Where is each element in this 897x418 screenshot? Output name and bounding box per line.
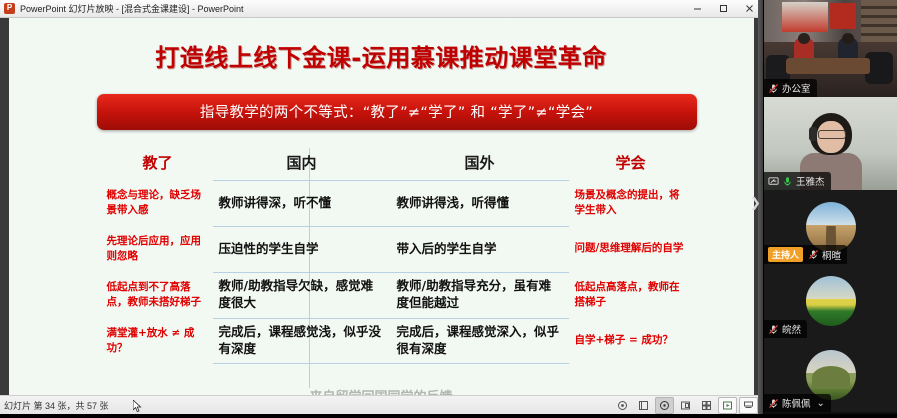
slide-canvas: 打造线上线下金课-运用慕课推动课堂革命 指导教学的两个不等式：“教了”≠“学了”…	[9, 18, 754, 395]
slide-footnote: 来自留学回国同学的反馈	[9, 386, 754, 396]
row-right-note: 低起点高落点，教师在搭梯子	[569, 272, 689, 318]
row-left-note: 概念与理论，缺乏场景带入感	[105, 180, 213, 226]
minimize-button[interactable]	[684, 0, 710, 17]
mic-muted-icon	[768, 324, 779, 335]
row-domestic-cell: 压迫性的学生自学	[213, 226, 391, 272]
view-controls	[613, 397, 758, 414]
screen-root: PowerPoint 幻灯片放映 - [混合式金课建设] - PowerPoin…	[0, 0, 897, 414]
reading-view-icon[interactable]	[697, 397, 716, 414]
accessibility-icon[interactable]	[613, 397, 632, 414]
screen-share-icon	[768, 176, 779, 187]
slide-counter: 幻灯片 第 34 张，共 57 张	[4, 399, 109, 412]
normal-view-icon[interactable]	[655, 397, 674, 414]
video-tile[interactable]: 主持人 桐暄	[764, 190, 897, 264]
mic-muted-icon	[768, 83, 779, 94]
powerpoint-logo-icon	[4, 3, 15, 14]
video-tile[interactable]: 王雅杰	[764, 97, 897, 190]
participant-label: 陈佩佩 ⌄	[764, 394, 831, 412]
row-left-note: 先理论后应用，应用则忽略	[105, 226, 213, 272]
video-tile[interactable]: 陈佩佩 ⌄	[764, 338, 897, 412]
row-domestic-cell: 完成后，课程感觉浅，似乎没有深度	[213, 318, 391, 364]
header-taught: 教了	[105, 146, 213, 180]
row-overseas-cell: 完成后，课程感觉深入，似乎很有深度	[391, 318, 569, 364]
inequality-banner: 指导教学的两个不等式：“教了”≠“学了” 和 “学了”≠“学会”	[97, 94, 697, 130]
restore-button[interactable]	[710, 0, 736, 17]
window-title: PowerPoint 幻灯片放映 - [混合式金课建设] - PowerPoin…	[20, 2, 244, 15]
row-domestic-cell: 教师/助教指导欠缺，感觉难度很大	[213, 272, 391, 318]
mic-muted-icon	[808, 249, 819, 260]
row-overseas-cell: 教师讲得浅，听得懂	[391, 180, 569, 226]
row-left-note: 满堂灌+放水 ≠ 成功？	[105, 318, 213, 364]
row-overseas-cell: 带入后的学生自学	[391, 226, 569, 272]
window-titlebar: PowerPoint 幻灯片放映 - [混合式金课建设] - PowerPoin…	[0, 0, 762, 18]
table-row: 低起点到不了高落点，教师未搭好梯子 教师/助教指导欠缺，感觉难度很大 教师/助教…	[105, 272, 689, 318]
row-overseas-cell: 教师/助教指导充分，虽有难度但能越过	[391, 272, 569, 318]
row-left-note: 低起点到不了高落点，教师未搭好梯子	[105, 272, 213, 318]
slide-title: 打造线上线下金课-运用慕课推动课堂革命	[9, 38, 754, 73]
row-right-note: 自学+梯子 = 成功？	[569, 318, 689, 364]
participant-name: 办公室	[782, 81, 811, 95]
status-bar: 幻灯片 第 34 张，共 57 张	[0, 395, 762, 414]
participant-label: 办公室	[764, 79, 817, 97]
participant-name: 皖然	[782, 322, 801, 336]
header-domestic: 国内	[213, 146, 391, 180]
participant-name: 桐暄	[822, 248, 841, 262]
chevron-down-icon[interactable]: ⌄	[817, 398, 825, 409]
video-panel: 办公室 王雅杰 主持人 桐暄	[764, 0, 897, 414]
row-domestic-cell: 教师讲得深，听不懂	[213, 180, 391, 226]
avatar	[806, 276, 856, 326]
slideshow-area[interactable]: 打造线上线下金课-运用慕课推动课堂革命 指导教学的两个不等式：“教了”≠“学了”…	[0, 18, 762, 395]
powerpoint-window: PowerPoint 幻灯片放映 - [混合式金课建设] - PowerPoin…	[0, 0, 762, 414]
header-overseas: 国外	[391, 146, 569, 180]
participant-name: 陈佩佩	[782, 396, 811, 410]
row-right-note: 场景及概念的提出，将学生带入	[569, 180, 689, 226]
comparison-table: 教了 国内 国外 学会 概念与理论，缺乏场景带入感 教师讲得深，听不懂 教师讲得…	[105, 146, 689, 364]
table-header-row: 教了 国内 国外 学会	[105, 146, 689, 180]
host-badge: 主持人	[768, 247, 803, 262]
mic-muted-icon	[768, 398, 779, 409]
participant-label: 主持人 桐暄	[764, 245, 847, 264]
video-tile[interactable]: 办公室	[764, 0, 897, 97]
notes-icon[interactable]	[634, 397, 653, 414]
header-learned: 学会	[569, 146, 689, 180]
avatar	[806, 350, 856, 400]
table-row: 先理论后应用，应用则忽略 压迫性的学生自学 带入后的学生自学 问题/思维理解后的…	[105, 226, 689, 272]
slideshow-icon[interactable]	[718, 397, 737, 414]
participant-name: 王雅杰	[796, 174, 825, 188]
table-row: 概念与理论，缺乏场景带入感 教师讲得深，听不懂 教师讲得浅，听得懂 场景及概念的…	[105, 180, 689, 226]
chevron-right-icon[interactable]: ❯	[750, 196, 761, 211]
participant-label: 王雅杰	[764, 172, 831, 190]
mic-on-icon	[782, 176, 793, 187]
participant-label: 皖然	[764, 320, 807, 338]
row-right-note: 问题/思维理解后的自学	[569, 226, 689, 272]
presenter-view-icon[interactable]	[739, 397, 758, 414]
mouse-cursor	[133, 400, 143, 418]
table-row: 满堂灌+放水 ≠ 成功？ 完成后，课程感觉浅，似乎没有深度 完成后，课程感觉深入…	[105, 318, 689, 364]
window-controls	[684, 0, 762, 17]
video-tile[interactable]: 皖然	[764, 264, 897, 338]
outline-view-icon[interactable]	[676, 397, 695, 414]
inequality-banner-text: 指导教学的两个不等式：“教了”≠“学了” 和 “学了”≠“学会”	[200, 101, 593, 122]
